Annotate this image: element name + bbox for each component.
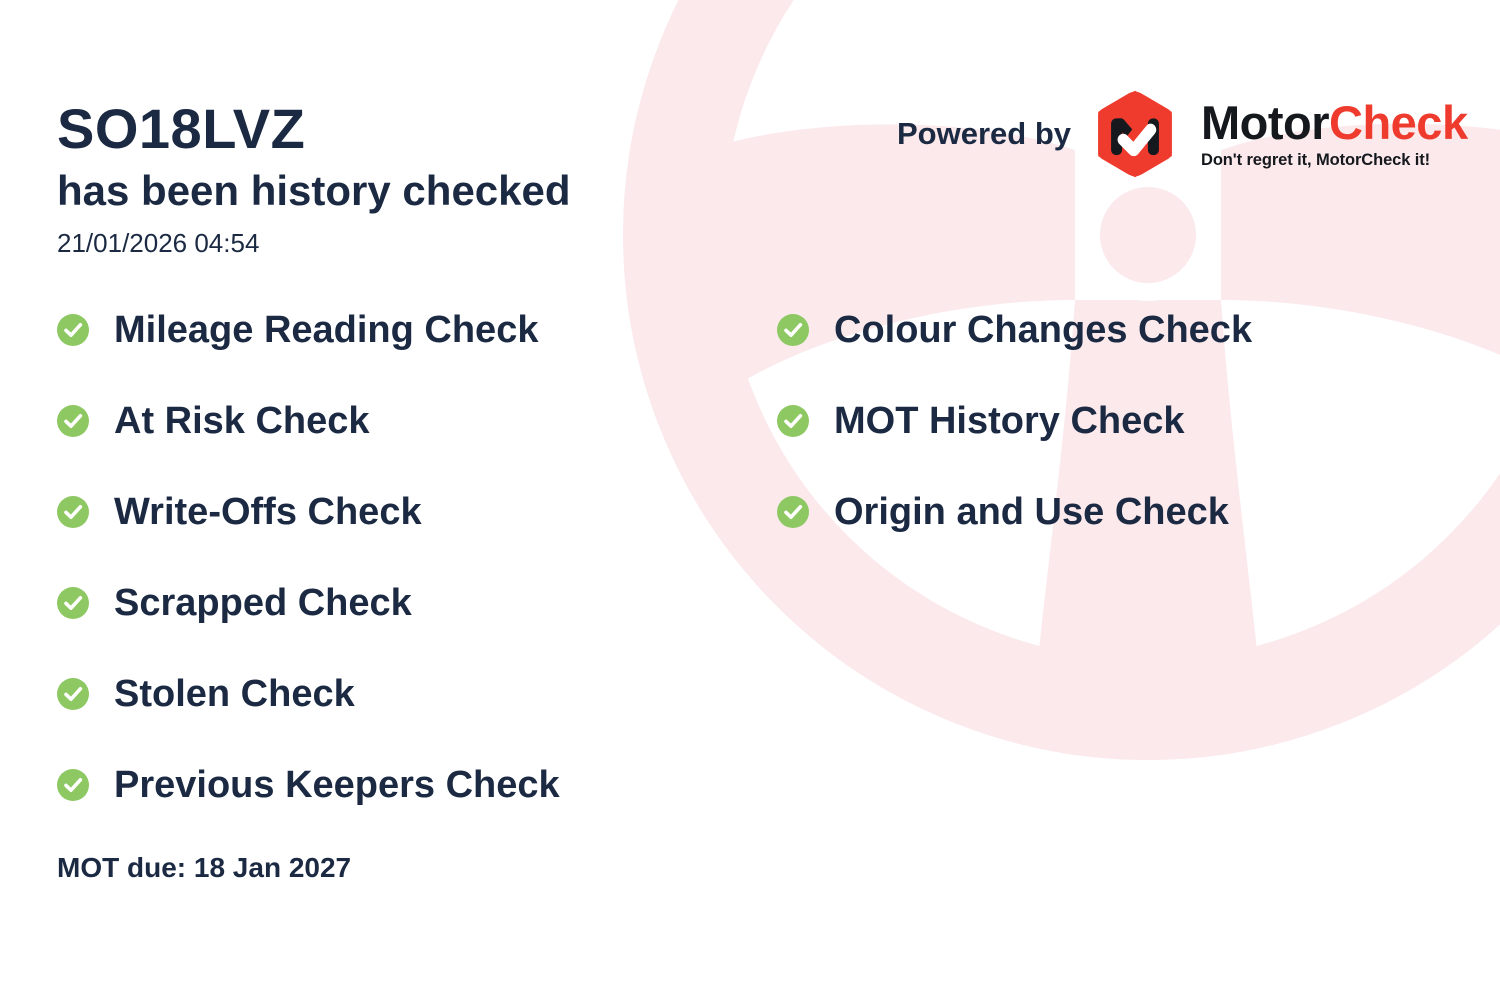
wordmark-check: Check — [1329, 96, 1468, 149]
check-circle-icon — [57, 405, 89, 437]
wordmark-motor: Motor — [1201, 96, 1329, 149]
check-label: Stolen Check — [114, 675, 355, 713]
check-label: Origin and Use Check — [834, 493, 1229, 531]
list-item: Mileage Reading Check — [57, 306, 560, 354]
list-item: Previous Keepers Check — [57, 761, 560, 809]
check-circle-icon — [57, 496, 89, 528]
check-circle-icon — [57, 678, 89, 710]
vehicle-history-check-card: SO18LVZ has been history checked 21/01/2… — [0, 0, 1500, 1000]
check-label: MOT History Check — [834, 402, 1185, 440]
check-label: At Risk Check — [114, 402, 370, 440]
motorcheck-wordmark: MotorCheck Don't regret it, MotorCheck i… — [1201, 99, 1468, 170]
list-item: Write-Offs Check — [57, 488, 560, 536]
check-label: Scrapped Check — [114, 584, 412, 622]
wordmark-line: MotorCheck — [1201, 99, 1468, 146]
powered-by-label: Powered by — [897, 116, 1071, 152]
check-label: Mileage Reading Check — [114, 311, 538, 349]
check-label: Write-Offs Check — [114, 493, 422, 531]
check-circle-icon — [57, 587, 89, 619]
check-label: Previous Keepers Check — [114, 766, 560, 804]
list-item: Colour Changes Check — [777, 306, 1252, 354]
list-item: Origin and Use Check — [777, 488, 1252, 536]
check-circle-icon — [57, 314, 89, 346]
mot-due-text: MOT due: 18 Jan 2027 — [57, 852, 351, 884]
list-item: Stolen Check — [57, 670, 560, 718]
checks-left-column: Mileage Reading Check At Risk Check Writ… — [57, 306, 560, 852]
list-item: At Risk Check — [57, 397, 560, 445]
check-circle-icon — [777, 314, 809, 346]
check-circle-icon — [777, 496, 809, 528]
list-item: Scrapped Check — [57, 579, 560, 627]
motorcheck-hexagon-logo-icon — [1089, 88, 1181, 180]
brand-tagline: Don't regret it, MotorCheck it! — [1201, 151, 1468, 170]
check-circle-icon — [777, 405, 809, 437]
powered-by-branding: Powered by MotorCheck Don't regret it, M… — [897, 88, 1468, 180]
check-circle-icon — [57, 769, 89, 801]
check-label: Colour Changes Check — [834, 311, 1252, 349]
checks-right-column: Colour Changes Check MOT History Check O… — [777, 306, 1252, 579]
list-item: MOT History Check — [777, 397, 1252, 445]
